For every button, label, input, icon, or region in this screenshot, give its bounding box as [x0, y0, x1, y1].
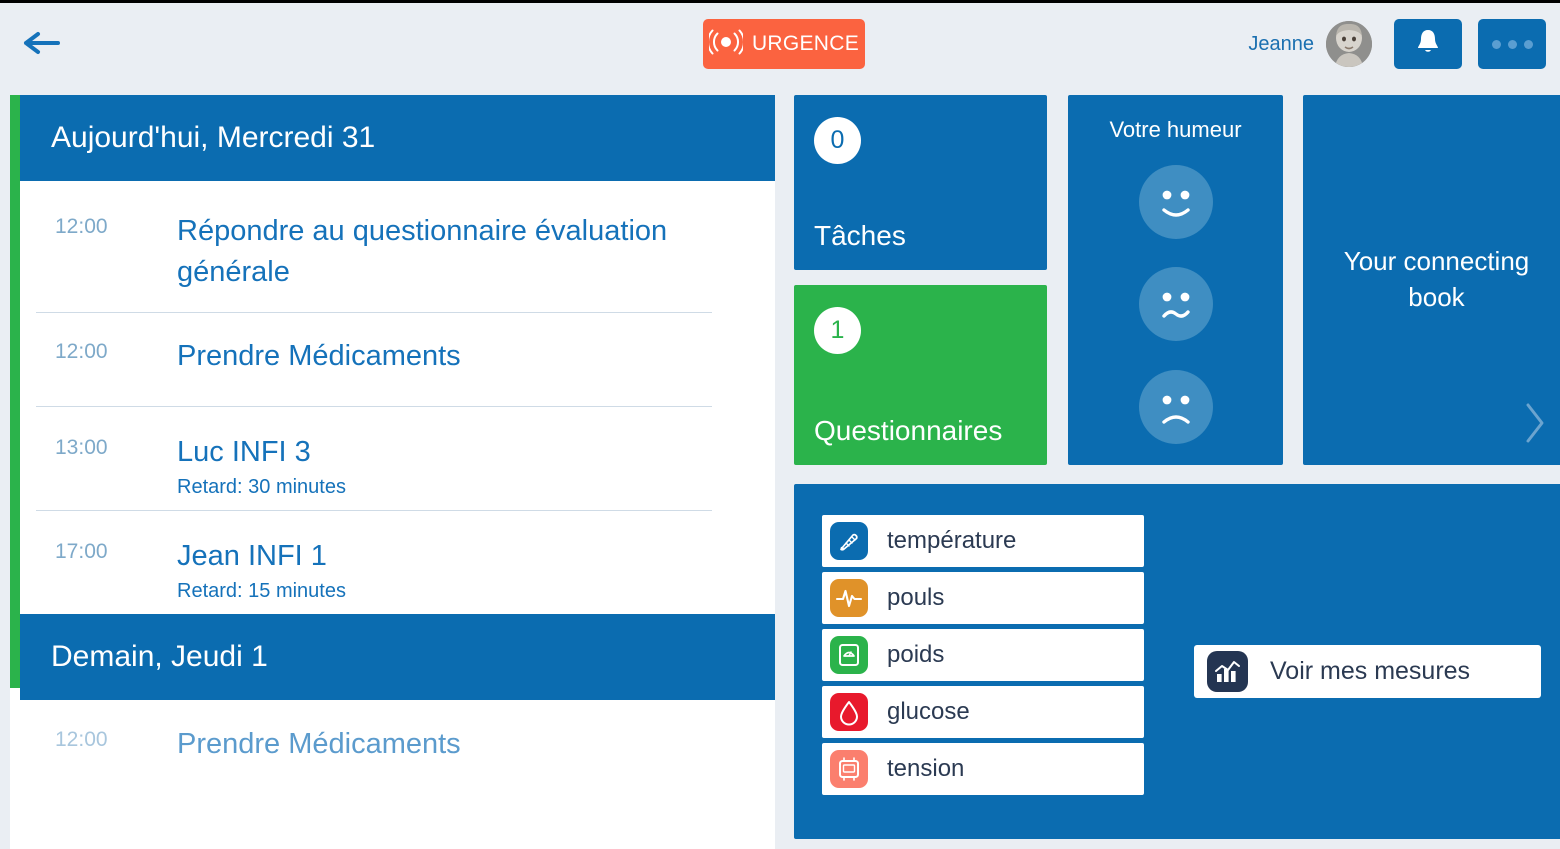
scale-icon: [830, 636, 868, 674]
taches-count: 0: [814, 117, 861, 164]
notification-bell-icon: [1414, 27, 1442, 62]
pulse-icon: [830, 579, 868, 617]
event-title: Luc INFI 3: [177, 432, 745, 473]
voir-mes-mesures-button[interactable]: Voir mes mesures: [1194, 645, 1541, 698]
back-arrow-icon[interactable]: [18, 21, 62, 65]
mood-neutral-icon[interactable]: [1139, 267, 1213, 341]
event-title: Répondre au questionnaire évaluation gén…: [177, 211, 745, 293]
agenda-event-row[interactable]: 12:00 Prendre Médicaments: [20, 312, 775, 406]
tile-connecting-book[interactable]: Your connecting book: [1303, 95, 1560, 465]
event-title: Prendre Médicaments: [177, 336, 745, 377]
event-time: 12:00: [55, 724, 177, 752]
emergency-signal-icon: [709, 29, 743, 60]
taches-label: Tâches: [814, 220, 906, 252]
mood-title: Votre humeur: [1068, 117, 1283, 143]
measure-label: tension: [887, 755, 964, 783]
agenda-event-row[interactable]: 12:00 Prendre Médicaments: [20, 700, 775, 794]
questionnaires-label: Questionnaires: [814, 415, 1002, 447]
event-delay: Retard: 30 minutes: [177, 476, 745, 499]
urgence-button[interactable]: URGENCE: [703, 19, 865, 69]
mood-sad-icon[interactable]: [1139, 370, 1213, 444]
agenda-event-row[interactable]: 17:00 Jean INFI 1 Retard: 15 minutes: [20, 510, 775, 614]
voir-mes-mesures-label: Voir mes mesures: [1270, 657, 1470, 686]
questionnaires-count: 1: [814, 307, 861, 354]
user-area[interactable]: Jeanne: [1248, 17, 1372, 71]
more-options-button[interactable]: [1478, 19, 1546, 69]
row-divider: [36, 406, 712, 407]
notification-bell-button[interactable]: [1394, 19, 1462, 69]
event-time: 12:00: [55, 336, 177, 364]
agenda-event-row[interactable]: 12:00 Répondre au questionnaire évaluati…: [20, 181, 775, 312]
thermometer-icon: [830, 522, 868, 560]
chevron-right-icon[interactable]: [1522, 400, 1548, 451]
tile-mood: Votre humeur: [1068, 95, 1283, 465]
row-divider: [36, 312, 712, 313]
measure-item-tension[interactable]: tension: [822, 743, 1144, 795]
event-delay: Retard: 15 minutes: [177, 580, 745, 603]
measure-label: pouls: [887, 584, 944, 612]
measure-item-glucose[interactable]: glucose: [822, 686, 1144, 738]
chart-bars-icon: [1207, 651, 1248, 692]
measure-item-pouls[interactable]: pouls: [822, 572, 1144, 624]
tile-taches[interactable]: 0 Tâches: [794, 95, 1047, 270]
measures-panel: température pouls poids: [794, 484, 1560, 839]
agenda-day-header: Demain, Jeudi 1: [20, 614, 775, 700]
event-time: 17:00: [55, 536, 177, 564]
event-title: Jean INFI 1: [177, 536, 745, 577]
connecting-book-label: Your connecting book: [1321, 244, 1552, 316]
mood-happy-icon[interactable]: [1139, 165, 1213, 239]
urgence-label: URGENCE: [752, 32, 859, 56]
measures-list: température pouls poids: [822, 515, 1144, 800]
agenda-day-title: Aujourd'hui, Mercredi 31: [51, 121, 375, 155]
agenda-panel: Aujourd'hui, Mercredi 31 12:00 Répondre …: [10, 95, 775, 849]
tile-questionnaires[interactable]: 1 Questionnaires: [794, 285, 1047, 465]
measure-label: glucose: [887, 698, 970, 726]
blood-pressure-monitor-icon: [830, 750, 868, 788]
measure-item-poids[interactable]: poids: [822, 629, 1144, 681]
measure-label: poids: [887, 641, 944, 669]
event-time: 13:00: [55, 432, 177, 460]
measure-label: température: [887, 527, 1016, 555]
agenda-today-accent-bar: [10, 95, 20, 688]
more-options-icon: [1492, 40, 1533, 49]
user-name: Jeanne: [1248, 33, 1314, 56]
agenda-day-title: Demain, Jeudi 1: [51, 640, 268, 674]
app-header: URGENCE Jeanne: [0, 3, 1560, 82]
row-divider: [36, 510, 712, 511]
blood-drop-icon: [830, 693, 868, 731]
avatar[interactable]: [1326, 21, 1372, 67]
agenda-event-row[interactable]: 13:00 Luc INFI 3 Retard: 30 minutes: [20, 406, 775, 510]
event-time: 12:00: [55, 211, 177, 239]
event-title: Prendre Médicaments: [177, 724, 745, 765]
measure-item-temperature[interactable]: température: [822, 515, 1144, 567]
agenda-day-header: Aujourd'hui, Mercredi 31: [20, 95, 775, 181]
